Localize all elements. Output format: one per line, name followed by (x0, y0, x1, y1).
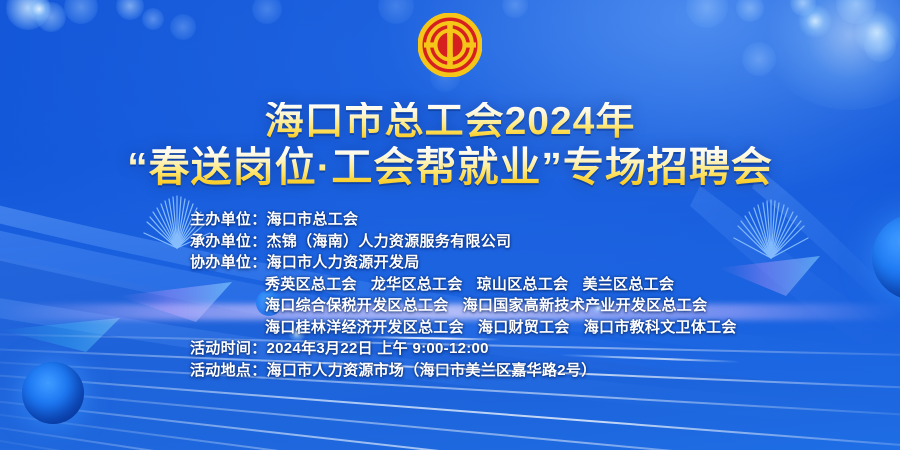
organizer-value: 海口市总工会 (267, 211, 359, 228)
coorganizer-extra-item: 海口市教科文卫体工会 (584, 319, 737, 336)
bokeh-circle (502, 0, 528, 18)
bokeh-circle (142, 8, 164, 30)
info-row-place: 活动地点：海口市人力资源市场（海口市美兰区嘉华路2号） (190, 360, 737, 382)
light-ray (0, 394, 900, 450)
coorganizer-extra-item: 龙华区总工会 (371, 276, 463, 293)
bokeh-circle (6, 0, 50, 30)
coorganizer-extra-item: 海口财贸工会 (478, 319, 570, 336)
light-ray (0, 406, 900, 450)
coorganizer-extra-item: 海口综合保税开发区总工会 (265, 297, 449, 314)
poster-title: 海口市总工会2024年 “春送岗位·工会帮就业”专场招聘会 (0, 102, 900, 188)
coorganizer-extra-row: 海口桂林洋经济开发区总工会海口财贸工会海口市教科文卫体工会 (190, 317, 737, 339)
corner-glow (760, 0, 900, 110)
coorganizer-extra-item: 海口国家高新技术产业开发区总工会 (463, 297, 708, 314)
place-label: 活动地点： (190, 360, 267, 382)
bokeh-circle (252, 0, 282, 24)
coorganizer-extra-item: 琼山区总工会 (477, 276, 569, 293)
info-row-time: 活动时间：2024年3月22日 上午 9:00-12:00 (190, 338, 737, 360)
info-row-undertaker: 承办单位：杰锦（海南）人力资源服务有限公司 (190, 231, 737, 253)
undertaker-value: 杰锦（海南）人力资源服务有限公司 (267, 233, 512, 250)
bokeh-circle (36, 2, 66, 32)
bokeh-circle (864, 30, 896, 62)
bokeh-glow (854, 10, 900, 56)
light-ray (0, 370, 900, 450)
firework-burst-right (730, 192, 812, 266)
glowing-sphere-bottom-left (22, 362, 84, 424)
bokeh-circle (742, 42, 776, 76)
bokeh-circle (736, 0, 764, 22)
glowing-sphere-right (872, 214, 900, 300)
acftu-union-emblem (418, 13, 482, 77)
coorganizer-extra-row: 海口综合保税开发区总工会海口国家高新技术产业开发区总工会 (190, 295, 737, 317)
bokeh-glow (26, 0, 52, 22)
coorganizer-extra-item: 美兰区总工会 (582, 276, 674, 293)
bokeh-glow (798, 4, 832, 38)
title-line-1: 海口市总工会2024年 (0, 102, 900, 143)
bokeh-circle (686, 0, 728, 28)
coorganizer-extra-item: 秀英区总工会 (265, 276, 357, 293)
recruitment-fair-poster: 海口市总工会2024年 “春送岗位·工会帮就业”专场招聘会 主办单位：海口市总工… (0, 0, 900, 450)
info-row-coorganizer: 协办单位：海口市人力资源开发局 (190, 252, 737, 274)
bokeh-circle (170, 14, 196, 40)
time-label: 活动时间： (190, 338, 267, 360)
bokeh-circle (64, 0, 98, 24)
bokeh-circle (790, 0, 816, 16)
info-row-organizer: 主办单位：海口市总工会 (190, 209, 737, 231)
undertaker-label: 承办单位： (190, 231, 267, 253)
coorganizer-extra-row: 秀英区总工会龙华区总工会琼山区总工会美兰区总工会 (190, 274, 737, 296)
event-info-block: 主办单位：海口市总工会 承办单位：杰锦（海南）人力资源服务有限公司 协办单位：海… (190, 209, 737, 381)
organizer-label: 主办单位： (190, 209, 267, 231)
bokeh-circle (836, 0, 876, 24)
light-ray (0, 382, 900, 450)
bokeh-circle (378, 0, 414, 24)
bokeh-circle (116, 0, 144, 20)
light-ray (0, 418, 900, 450)
time-value: 2024年3月22日 上午 9:00-12:00 (267, 340, 489, 357)
title-line-2: “春送岗位·工会帮就业”专场招聘会 (0, 146, 900, 189)
light-ray (0, 430, 900, 450)
coorganizer-extra-item: 海口桂林洋经济开发区总工会 (265, 319, 464, 336)
place-value: 海口市人力资源市场（海口市美兰区嘉华路2号） (267, 362, 597, 379)
coorganizer-label: 协办单位： (190, 252, 267, 274)
coorganizer-value: 海口市人力资源开发局 (267, 254, 420, 271)
